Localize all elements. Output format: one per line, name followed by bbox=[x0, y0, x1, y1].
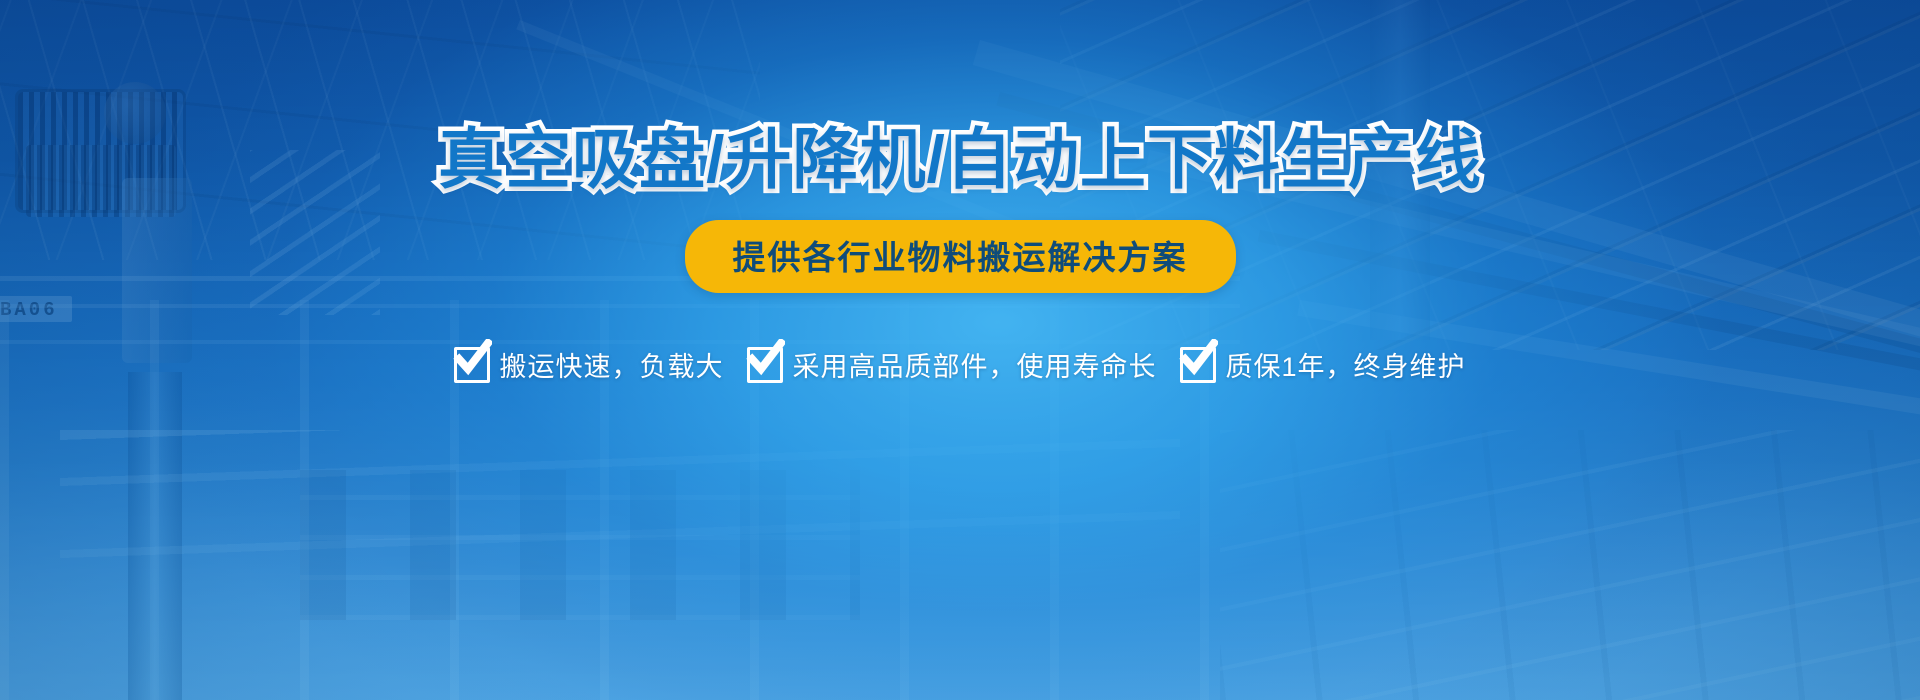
banner-title: 真空吸盘/升降机/自动上下料生产线 bbox=[438, 125, 1482, 194]
feature-item: 质保1年，终身维护 bbox=[1180, 345, 1465, 384]
checkbox-check-icon bbox=[454, 347, 490, 383]
banner-content: 真空吸盘/升降机/自动上下料生产线 提供各行业物料搬运解决方案 搬运快速，负载大… bbox=[0, 0, 1920, 700]
banner-subtitle-badge: 提供各行业物料搬运解决方案 bbox=[685, 220, 1236, 293]
hero-banner: BA06 真空吸盘/升降机/自动上下料生产线 提供各行业物料搬运解决方案 搬运快… bbox=[0, 0, 1920, 700]
feature-item: 搬运快速，负载大 bbox=[454, 345, 723, 384]
feature-item: 采用高品质部件，使用寿命长 bbox=[747, 345, 1156, 384]
feature-label: 质保1年，终身维护 bbox=[1225, 345, 1465, 384]
feature-list: 搬运快速，负载大 采用高品质部件，使用寿命长 质保1年，终身维护 bbox=[454, 345, 1465, 384]
checkbox-check-icon bbox=[747, 347, 783, 383]
checkbox-check-icon bbox=[1180, 347, 1216, 383]
feature-label: 采用高品质部件，使用寿命长 bbox=[792, 345, 1156, 384]
feature-label: 搬运快速，负载大 bbox=[499, 345, 723, 384]
